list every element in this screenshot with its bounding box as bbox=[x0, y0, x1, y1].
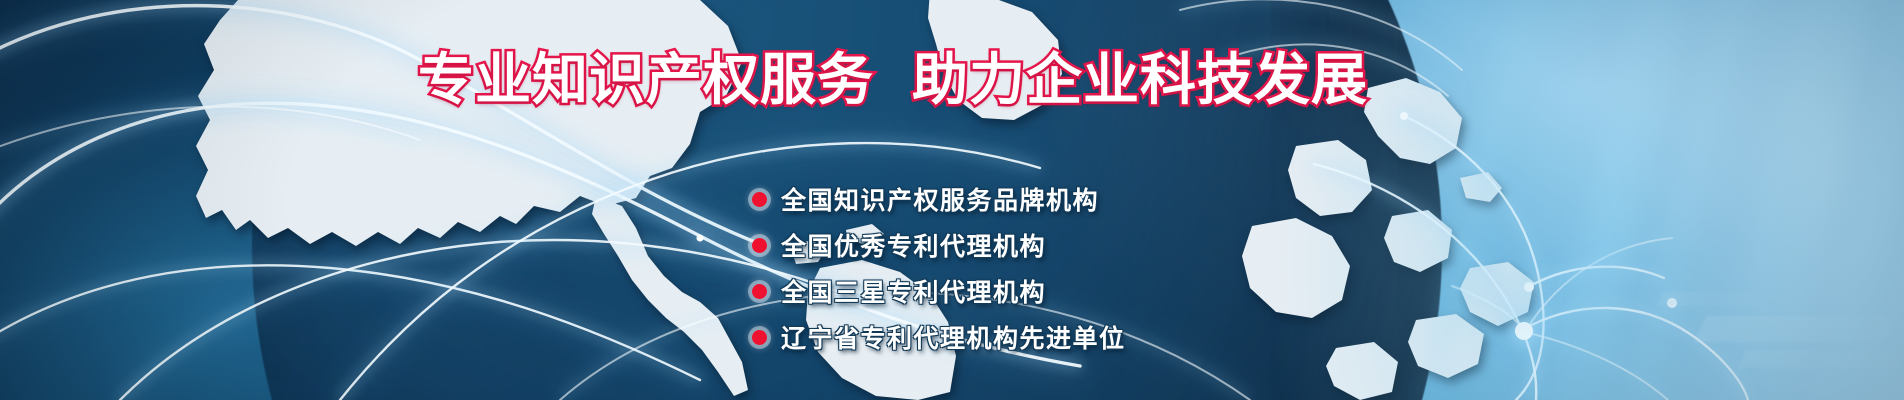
red-dot-bullet-icon bbox=[752, 330, 767, 345]
headline-part-2: 助力企业科技发展 bbox=[912, 48, 1368, 111]
banner-content: 专业知识产权服务助力企业科技发展 全国知识产权服务品牌机构 全国优秀专利代理机构… bbox=[0, 0, 1904, 400]
list-item: 全国三星专利代理机构 bbox=[752, 268, 1126, 314]
headline-part-1: 专业知识产权服务 bbox=[418, 48, 874, 111]
credentials-list: 全国知识产权服务品牌机构 全国优秀专利代理机构 全国三星专利代理机构 辽宁省专利… bbox=[752, 176, 1126, 360]
list-item-label: 辽宁省专利代理机构先进单位 bbox=[781, 319, 1126, 355]
list-item-label: 全国知识产权服务品牌机构 bbox=[781, 181, 1099, 217]
list-item-label: 全国优秀专利代理机构 bbox=[781, 227, 1046, 263]
banner-headline: 专业知识产权服务助力企业科技发展 bbox=[418, 52, 1368, 108]
red-dot-bullet-icon bbox=[752, 284, 767, 299]
list-item-label: 全国三星专利代理机构 bbox=[781, 273, 1046, 309]
promo-banner: 专业知识产权服务助力企业科技发展 全国知识产权服务品牌机构 全国优秀专利代理机构… bbox=[0, 0, 1904, 400]
list-item: 全国优秀专利代理机构 bbox=[752, 222, 1126, 268]
red-dot-bullet-icon bbox=[752, 238, 767, 253]
list-item: 辽宁省专利代理机构先进单位 bbox=[752, 314, 1126, 360]
list-item: 全国知识产权服务品牌机构 bbox=[752, 176, 1126, 222]
red-dot-bullet-icon bbox=[752, 192, 767, 207]
